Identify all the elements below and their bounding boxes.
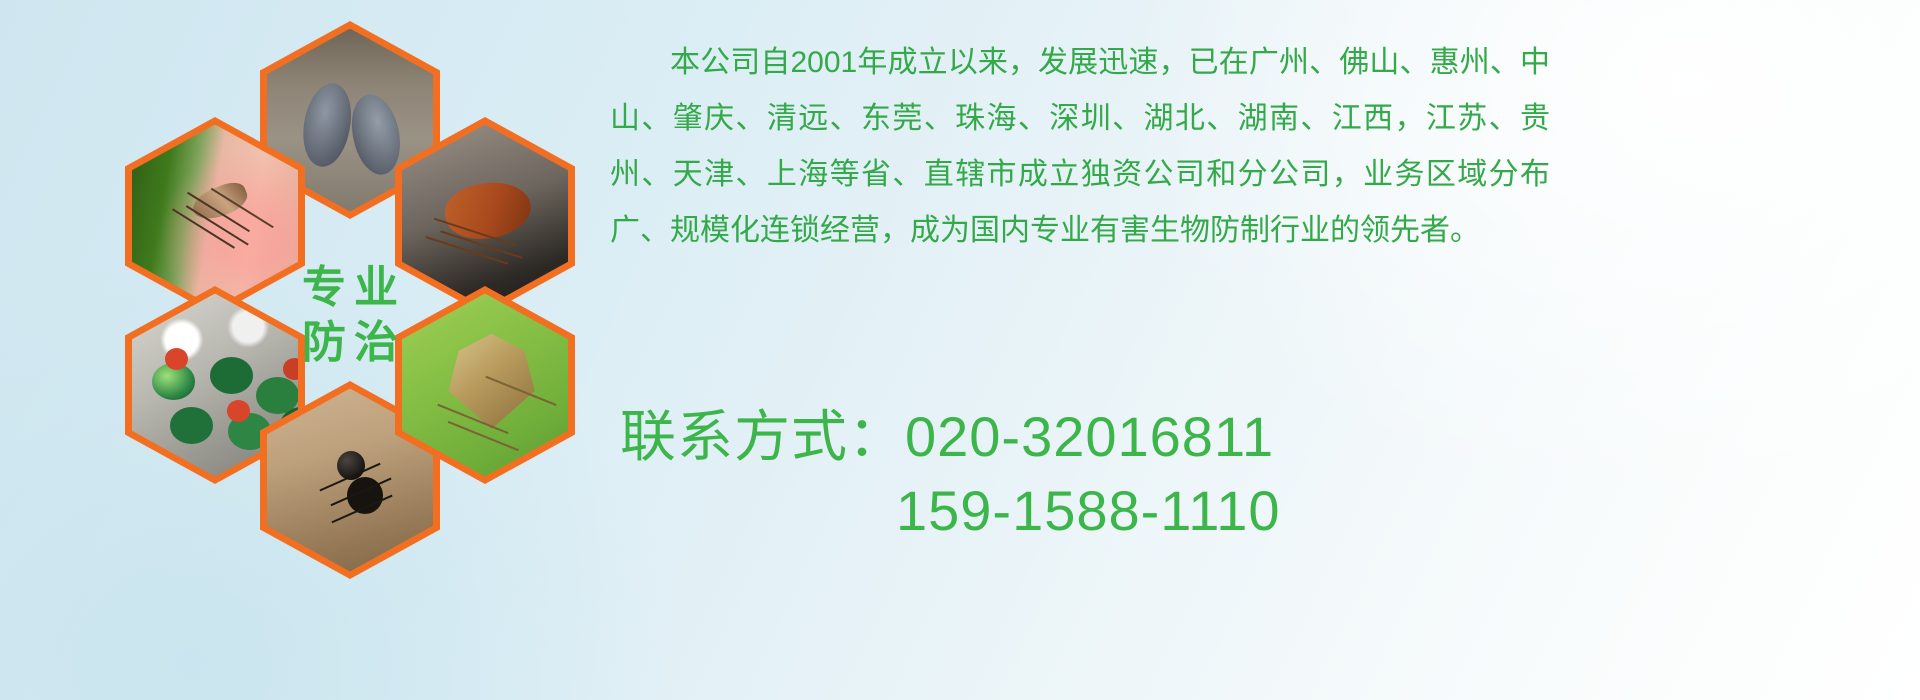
- slogan-line-1: 专业: [294, 260, 406, 315]
- promo-banner: 专业 防治 本公司自2001年成立以来，发展迅速，已在广州、佛山、惠州、中山、肇…: [0, 0, 1920, 700]
- banner-content: 本公司自2001年成立以来，发展迅速，已在广州、佛山、惠州、中山、肇庆、清远、东…: [600, 0, 1920, 700]
- contact-line-landline: 联系方式：020-32016811: [620, 400, 1520, 474]
- company-intro-paragraph: 本公司自2001年成立以来，发展迅速，已在广州、佛山、惠州、中山、肇庆、清远、东…: [610, 35, 1550, 259]
- slogan-line-2: 防治: [294, 315, 406, 370]
- contact-block: 联系方式：020-32016811 159-1588-1110: [620, 400, 1520, 548]
- contact-line-mobile[interactable]: 159-1588-1110: [620, 474, 1520, 548]
- contact-label: 联系方式：: [620, 405, 905, 468]
- hexagon-photo-cluster: 专业 防治: [100, 10, 600, 570]
- landline-number[interactable]: 020-32016811: [905, 405, 1274, 468]
